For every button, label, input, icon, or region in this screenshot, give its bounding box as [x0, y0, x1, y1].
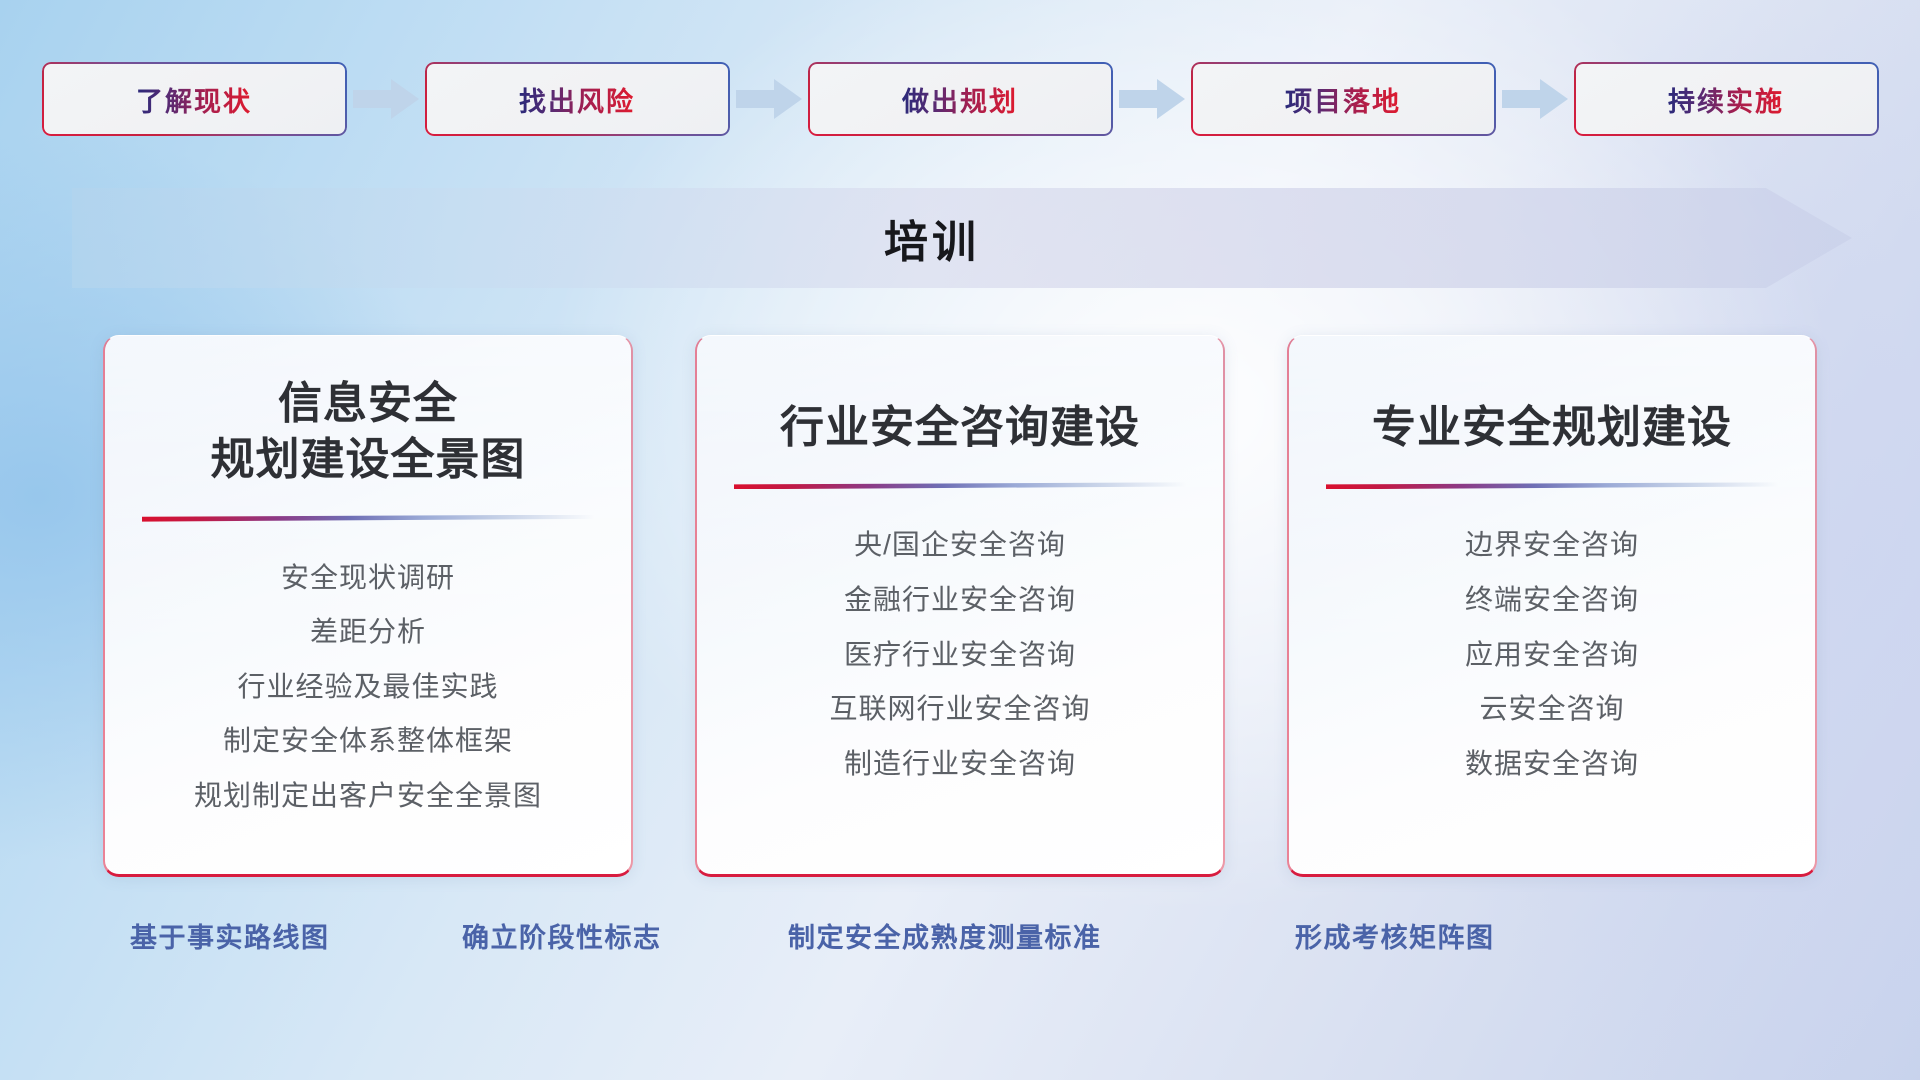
training-banner: 培训 — [72, 188, 1852, 288]
card-divider — [734, 482, 1186, 489]
arrow-right-icon — [1113, 77, 1191, 121]
step-label: 做出规划 — [902, 80, 1018, 119]
card-security-blueprint[interactable]: 信息安全 规划建设全景图 安全现状调研 差距分析 行业经验及最佳实践 制定安全体… — [103, 335, 633, 877]
list-item: 金融行业安全咨询 — [844, 580, 1076, 621]
card-professional-planning[interactable]: 专业安全规划建设 边界安全咨询 终端安全咨询 应用安全咨询 云安全咨询 数据安全… — [1287, 335, 1817, 877]
arrow-right-icon — [730, 77, 808, 121]
step-label: 了解现状 — [136, 80, 252, 119]
footnote-roadmap: 基于事实路线图 — [130, 916, 330, 955]
step-box-2[interactable]: 找出风险 — [425, 62, 730, 136]
list-item: 医疗行业安全咨询 — [844, 635, 1076, 676]
step-label: 持续实施 — [1668, 80, 1784, 119]
card-list: 边界安全咨询 终端安全咨询 应用安全咨询 云安全咨询 数据安全咨询 — [1289, 525, 1815, 784]
list-item: 边界安全咨询 — [1465, 525, 1639, 566]
step-box-5[interactable]: 持续实施 — [1574, 62, 1879, 136]
step-box-1[interactable]: 了解现状 — [42, 62, 347, 136]
list-item: 应用安全咨询 — [1465, 635, 1639, 676]
arrow-right-icon — [347, 77, 425, 121]
list-item: 数据安全咨询 — [1465, 744, 1639, 785]
card-divider — [1326, 482, 1778, 489]
card-title: 信息安全 规划建设全景图 — [189, 376, 548, 489]
list-item: 行业经验及最佳实践 — [237, 667, 498, 708]
step-box-4[interactable]: 项目落地 — [1191, 62, 1496, 136]
card-industry-consulting[interactable]: 行业安全咨询建设 央/国企安全咨询 金融行业安全咨询 医疗行业安全咨询 互联网行… — [695, 335, 1225, 877]
footnote-milestones: 确立阶段性标志 — [462, 916, 662, 955]
list-item: 终端安全咨询 — [1465, 580, 1639, 621]
list-item: 制造行业安全咨询 — [844, 744, 1076, 785]
card-title: 行业安全咨询建设 — [758, 400, 1162, 456]
banner-title: 培训 — [72, 188, 1852, 288]
footnote-row: 基于事实路线图 确立阶段性标志 制定安全成熟度测量标准 形成考核矩阵图 — [0, 916, 1920, 960]
step-box-3[interactable]: 做出规划 — [808, 62, 1113, 136]
footnote-assessment-matrix: 形成考核矩阵图 — [1295, 916, 1495, 955]
process-step-row: 了解现状 找出风险 做出规划 项目落地 持续实施 — [0, 62, 1920, 136]
arrow-right-icon — [1496, 77, 1574, 121]
list-item: 央/国企安全咨询 — [854, 525, 1066, 566]
card-row: 信息安全 规划建设全景图 安全现状调研 差距分析 行业经验及最佳实践 制定安全体… — [0, 335, 1920, 875]
list-item: 互联网行业安全咨询 — [829, 689, 1090, 730]
list-item: 规划制定出客户安全全景图 — [194, 776, 542, 817]
step-label: 项目落地 — [1285, 80, 1401, 119]
card-list: 安全现状调研 差距分析 行业经验及最佳实践 制定安全体系整体框架 规划制定出客户… — [105, 558, 631, 817]
card-divider — [142, 515, 594, 522]
step-label: 找出风险 — [519, 80, 635, 119]
list-item: 安全现状调研 — [281, 558, 455, 599]
list-item: 制定安全体系整体框架 — [223, 721, 513, 762]
list-item: 云安全咨询 — [1479, 689, 1624, 730]
card-title: 专业安全规划建设 — [1350, 400, 1754, 456]
footnote-maturity-standard: 制定安全成熟度测量标准 — [788, 916, 1102, 955]
card-list: 央/国企安全咨询 金融行业安全咨询 医疗行业安全咨询 互联网行业安全咨询 制造行… — [697, 525, 1223, 784]
list-item: 差距分析 — [310, 612, 426, 653]
